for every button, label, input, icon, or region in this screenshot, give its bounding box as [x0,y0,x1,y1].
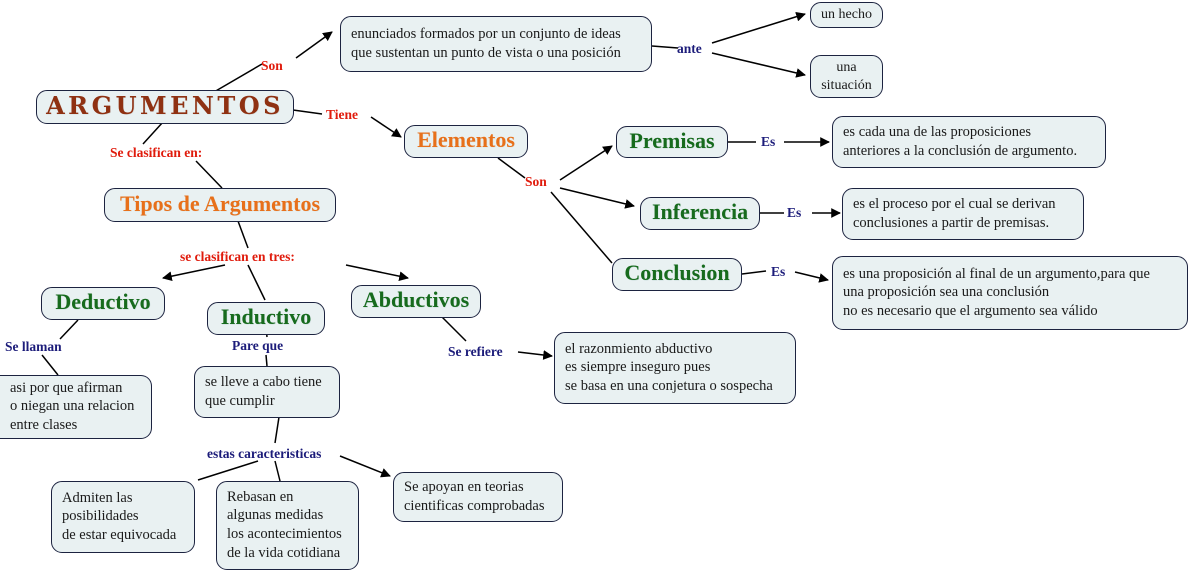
node-rebasan-line-2: algunas medidas [227,506,348,525]
node-inductivo[interactable]: Inductivo [207,302,325,335]
edge-serefiere-abductivosdef [518,352,552,356]
node-inferencia[interactable]: Inferencia [640,197,760,230]
node-rebasan-line-1: Rebasan en [227,488,348,507]
edge-root-clasifican [143,122,163,144]
edge-root-son [214,64,262,92]
edge-label-tiene: Tiene [326,107,358,123]
node-inductivo-def-line-1: se lleve a cabo tiene [205,373,329,392]
edge-label-son-elementos: Son [525,174,547,190]
node-abductivos-def-line-1: el razonmiento abductivo [565,340,785,359]
node-conclusion-def-line-2: una proposición sea una conclusión [843,283,1177,302]
node-conclusion-def-line-1: es una proposición al final de un argume… [843,265,1177,284]
edge-label-es-inferencia: Es [787,205,801,221]
node-deductivo-def-line-1: asi por que afirman [10,379,141,398]
node-definicion-argumentos[interactable]: enunciados formados por un conjunto de i… [340,16,652,72]
node-conclusion-label: Conclusion [624,259,729,287]
node-deductivo-def-line-2: o niegan una relacion [10,397,141,416]
node-tipos-label: Tipos de Argumentos [120,190,320,218]
edge-es-conclusiondef [795,272,828,280]
node-premisas-def-line-1: es cada una de las proposiciones [843,123,1095,142]
node-inductivo-label: Inductivo [221,303,311,331]
edge-label-se-llaman: Se llaman [5,339,62,355]
edge-tres-inductivo [248,265,265,300]
node-una-situacion-line-2: situación [821,77,872,95]
edge-deductivo-sellaman [60,320,78,339]
node-abductivos[interactable]: Abductivos [351,285,481,318]
node-teorias-line-2: cientificas comprobadas [404,497,552,516]
node-deductivo-def-line-3: entre clases [10,416,141,435]
edge-label-ante: ante [677,41,702,57]
node-teorias-cientificas[interactable]: Se apoyan en teorias cientificas comprob… [393,472,563,522]
node-deductivo[interactable]: Deductivo [41,287,165,320]
node-admiten-line-3: de estar equivocada [62,526,184,545]
node-premisas-label: Premisas [629,127,714,155]
node-premisas-def-line-2: anteriores a la conclusión de argumento. [843,142,1095,161]
edge-label-se-clasifican-en: Se clasifican en: [110,145,202,161]
edge-label-se-refiere: Se refiere [448,344,503,360]
node-rebasan-line-3: los acontecimientos [227,525,348,544]
node-rebasan-medidas[interactable]: Rebasan en algunas medidas los acontecim… [216,481,359,570]
node-argumentos-label: ARGUMENTOS [46,91,284,122]
node-un-hecho-label: un hecho [821,6,872,24]
edge-definicion-ante [652,46,678,48]
node-teorias-line-1: Se apoyan en teorias [404,478,552,497]
edge-caracteristicas-teorias [340,456,390,476]
node-admiten-line-2: posibilidades [62,507,184,526]
node-deductivo-definicion[interactable]: asi por que afirman o niegan una relacio… [0,375,152,439]
node-rebasan-line-4: de la vida cotidiana [227,544,348,563]
node-argumentos[interactable]: ARGUMENTOS [36,90,294,124]
edge-tipos-tres [238,221,248,248]
node-inductivo-def-line-2: que cumplir [205,392,329,411]
node-inductivo-definicion[interactable]: se lleve a cabo tiene que cumplir [194,366,340,418]
node-elementos[interactable]: Elementos [404,125,528,158]
edge-elementos-son [498,158,525,178]
node-inferencia-def-line-1: es el proceso por el cual se derivan [853,195,1073,214]
edge-conclusion-es [742,271,766,274]
edge-tres-abductivos [346,265,408,278]
node-conclusion[interactable]: Conclusion [612,258,742,291]
edge-son-conclusion [551,192,612,263]
node-inferencia-label: Inferencia [652,198,748,226]
node-una-situacion-line-1: una [836,59,856,77]
edge-label-estas-caracteristicas: estas caracteristicas [207,446,321,462]
edge-label-se-clasifican-en-tres: se clasifican en tres: [180,249,295,265]
edge-abductivos-serefiere [440,315,466,341]
edge-tres-deductivo [163,265,225,278]
node-tipos-de-argumentos[interactable]: Tipos de Argumentos [104,188,336,222]
node-admiten-posibilidades[interactable]: Admiten las posibilidades de estar equiv… [51,481,195,553]
node-premisas[interactable]: Premisas [616,126,728,158]
node-inferencia-definicion[interactable]: es el proceso por el cual se derivan con… [842,188,1084,240]
edge-label-es-premisas: Es [761,134,775,150]
node-admiten-line-1: Admiten las [62,489,184,508]
edge-pareque-inductivodef [266,355,267,366]
node-abductivos-definicion[interactable]: el razonmiento abductivo es siempre inse… [554,332,796,404]
edge-son-definicion [296,32,332,58]
node-elementos-label: Elementos [417,126,515,154]
edge-clasifican-tipos [196,161,222,188]
edge-inductivodef-caracteristicas [275,417,279,443]
edge-ante-unhecho [712,14,805,43]
node-abductivos-def-line-3: se basa en una conjetura o sospecha [565,377,785,396]
edge-ante-unasituacion [712,53,805,75]
edge-label-pare-que: Pare que [232,338,283,354]
node-una-situacion[interactable]: una situación [810,55,883,98]
node-conclusion-definicion[interactable]: es una proposición al final de un argume… [832,256,1188,330]
edge-label-son-top: Son [261,58,283,74]
edge-son-inferencia [560,188,634,206]
node-un-hecho[interactable]: un hecho [810,2,883,28]
concept-map-canvas: ARGUMENTOS enunciados formados por un co… [0,0,1194,571]
node-deductivo-label: Deductivo [55,288,150,316]
node-definicion-line-2: que sustentan un punto de vista o una po… [351,44,641,63]
edge-tiene-elementos [371,117,401,137]
edge-sellaman-deductivodef [42,355,58,375]
edge-caracteristicas-admiten [198,461,258,480]
edge-root-tiene [293,110,322,114]
edge-label-es-conclusion: Es [771,264,785,280]
node-premisas-definicion[interactable]: es cada una de las proposiciones anterio… [832,116,1106,168]
edge-son-premisas [560,146,612,180]
node-conclusion-def-line-3: no es necesario que el argumento sea vál… [843,302,1177,321]
node-inferencia-def-line-2: conclusiones a partir de premisas. [853,214,1073,233]
edge-caracteristicas-rebasan [275,461,280,481]
node-definicion-line-1: enunciados formados por un conjunto de i… [351,25,641,44]
node-abductivos-def-line-2: es siempre inseguro pues [565,358,785,377]
node-abductivos-label: Abductivos [363,286,469,314]
